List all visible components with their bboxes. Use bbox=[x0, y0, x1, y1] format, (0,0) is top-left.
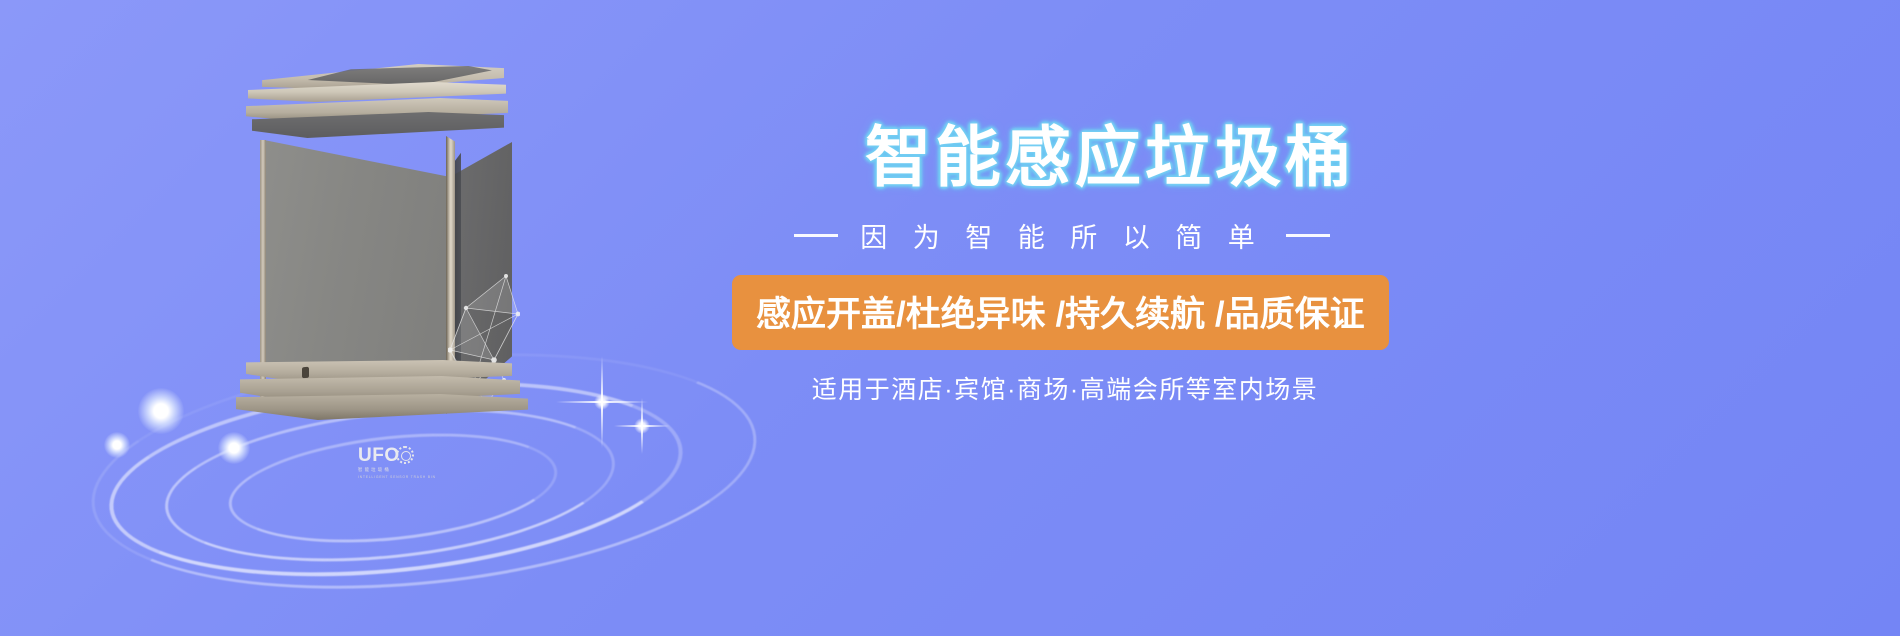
banner-subtitle-row: 因 为 智 能 所 以 简 单 bbox=[752, 216, 1372, 255]
logo-subtitle-cn: 智能垃圾桶 bbox=[358, 467, 420, 473]
sparkle-small-right bbox=[614, 398, 670, 454]
subtitle-dash-left bbox=[794, 234, 838, 237]
logo-ring-icon bbox=[396, 446, 414, 464]
logo-subtitle-en: INTELLIGENT SENSOR TRASH BIN bbox=[358, 475, 420, 479]
glow-dot-3 bbox=[104, 432, 130, 458]
banner-title: 智能感应垃圾桶 bbox=[865, 122, 1355, 192]
product-image-trash-bin: UFO 智能垃圾桶 INTELLIGENT SENSOR TRASH BIN bbox=[236, 60, 536, 450]
banner-subtitle: 因 为 智 能 所 以 简 单 bbox=[860, 216, 1264, 255]
feature-highlight-text: 感应开盖/杜绝异味 /持久续航 /品质保证 bbox=[756, 295, 1365, 334]
banner-text-block: 智能感应垃圾桶 因 为 智 能 所 以 简 单 感应开盖/杜绝异味 /持久续航 … bbox=[700, 0, 1800, 636]
feature-highlight-badge: 感应开盖/杜绝异味 /持久续航 /品质保证 bbox=[732, 275, 1389, 350]
ufo-brand-logo: UFO 智能垃圾桶 INTELLIGENT SENSOR TRASH BIN bbox=[358, 446, 420, 492]
promo-banner: UFO 智能垃圾桶 INTELLIGENT SENSOR TRASH BIN 智… bbox=[0, 0, 1900, 636]
bin-base-sensor-slot bbox=[302, 367, 309, 379]
usage-scenario-text: 适用于酒店·宾馆·商场·高端会所等室内场景 bbox=[745, 370, 1385, 406]
glow-dot-1 bbox=[138, 388, 184, 434]
subtitle-dash-right bbox=[1286, 234, 1330, 237]
